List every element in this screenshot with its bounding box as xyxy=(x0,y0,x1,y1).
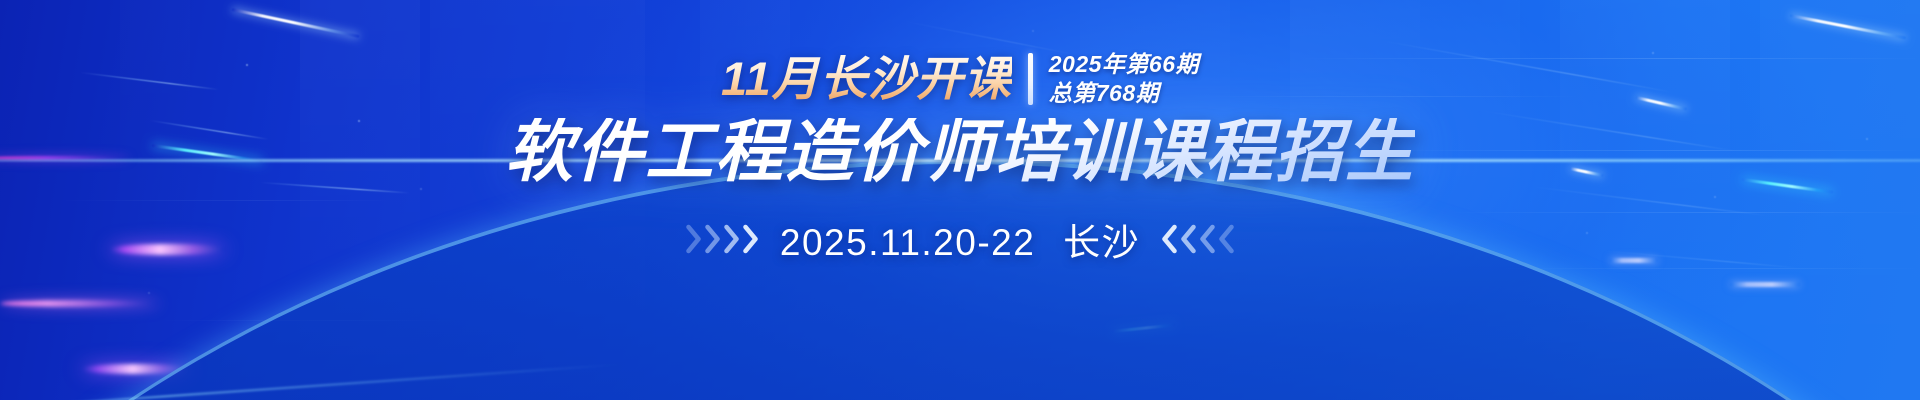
chevron-right-icon xyxy=(686,224,703,254)
vertical-divider-icon xyxy=(1028,53,1033,105)
chevron-right-icon xyxy=(724,224,741,254)
gold-course-title: 11月长沙开课 xyxy=(721,55,1012,102)
right-chevron-group xyxy=(1160,224,1234,254)
chevron-right-icon xyxy=(705,224,722,254)
event-city: 长沙 xyxy=(1063,222,1140,263)
dateline-row: 2025.11.20-22 长沙 xyxy=(686,212,1234,266)
event-dateline: 2025.11.20-22 长沙 xyxy=(780,212,1140,266)
chevron-left-icon xyxy=(1179,224,1196,254)
left-chevron-group xyxy=(686,224,760,254)
course-promo-banner: 11月长沙开课 2025年第66期 总第768期 软件工程造价师培训课程招生 xyxy=(0,0,1920,400)
issue-line-total: 总第768期 xyxy=(1049,81,1199,106)
issue-line-year: 2025年第66期 xyxy=(1049,52,1199,77)
page-title: 软件工程造价师培训课程招生 xyxy=(505,118,1415,186)
eyebrow-row: 11月长沙开课 2025年第66期 总第768期 xyxy=(721,52,1199,106)
event-date: 2025.11.20-22 xyxy=(780,222,1035,263)
chevron-left-icon xyxy=(1198,224,1215,254)
banner-content: 11月长沙开课 2025年第66期 总第768期 软件工程造价师培训课程招生 xyxy=(0,0,1920,400)
chevron-left-icon xyxy=(1160,224,1177,254)
issue-number-block: 2025年第66期 总第768期 xyxy=(1049,52,1199,106)
chevron-right-icon xyxy=(743,224,760,254)
chevron-left-icon xyxy=(1217,224,1234,254)
